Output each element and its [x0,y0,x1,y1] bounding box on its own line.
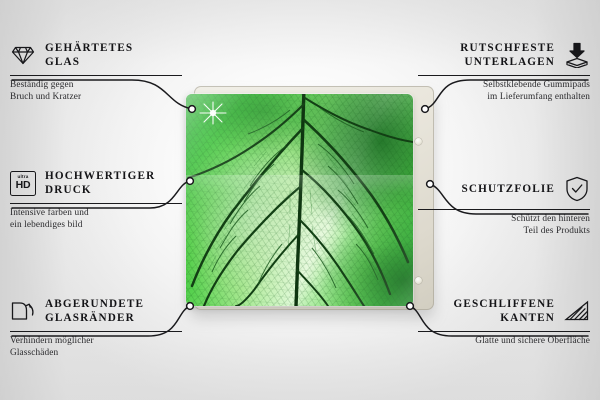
feature-subtitle: Verhindern möglicherGlasschäden [10,336,182,359]
feature-title-line-2: DRUCK [45,184,92,196]
feature-title-line-1: RUTSCHFESTE [460,42,555,54]
feature-subtitle-line-1: Verhindern möglicher [10,336,94,346]
ultra-hd-badge-icon: ultra HD [10,169,36,197]
feature-title-line-2: KANTEN [500,312,555,324]
rounded-corner-icon [10,297,36,325]
feature-subtitle: Schützt den hinterenTeil des Produkts [418,214,590,237]
feature-subtitle: Intensive farben undein lebendiges bild [10,208,182,231]
feature-divider [10,203,182,204]
feature-header: GEHÄRTETESGLAS [10,38,182,72]
feature-protective-film: SCHUTZFOLIE Schützt den hinterenTeil des… [418,172,590,237]
glass-panel [186,94,413,306]
feature-subtitle: Beständig gegenBruch und Kratzer [10,80,182,103]
arrow-onto-pad-icon [564,41,590,69]
feature-title-line-1: SCHUTZFOLIE [462,183,555,195]
feature-non-slip-pads: RUTSCHFESTEUNTERLAGEN Selbstklebende Gum… [418,38,590,103]
feature-header: ABGERUNDETEGLASRÄNDER [10,294,182,328]
diamond-icon [10,41,36,69]
feature-title: GEHÄRTETESGLAS [45,41,133,70]
hd-badge-hd-text: HD [16,180,31,191]
product-image [186,86,434,314]
feature-title: ABGERUNDETEGLASRÄNDER [45,297,144,326]
feature-subtitle-line-2: Bruch und Kratzer [10,92,81,102]
feature-title: SCHUTZFOLIE [462,182,555,197]
feature-divider [418,209,590,210]
feature-subtitle-line-1: Selbstklebende Gummipads [483,80,590,90]
feature-subtitle-line-2: ein lebendiges bild [10,220,83,230]
feature-subtitle: Selbstklebende Gummipadsim Lieferumfang … [418,80,590,103]
feature-header: SCHUTZFOLIE [418,172,590,206]
feature-divider [418,75,590,76]
feature-subtitle-line-1: Beständig gegen [10,80,74,90]
feature-rounded-glass-edges: ABGERUNDETEGLASRÄNDER Verhindern möglich… [10,294,182,359]
feature-divider [418,331,590,332]
feature-title-line-1: ABGERUNDETE [45,298,144,310]
feature-high-quality-print: ultra HD HOCHWERTIGERDRUCK Intensive far… [10,166,182,231]
feature-subtitle-line-2: Glasschäden [10,348,58,358]
feature-title-line-2: GLAS [45,56,80,68]
glass-sheen [186,94,413,306]
feature-header: RUTSCHFESTEUNTERLAGEN [418,38,590,72]
feature-subtitle-line-1: Glatte und sichere Oberfläche [475,336,590,346]
feature-title-line-2: UNTERLAGEN [465,56,555,68]
shield-check-icon [564,175,590,203]
feature-title-line-1: GEHÄRTETES [45,42,133,54]
feature-title: GESCHLIFFENEKANTEN [454,297,555,326]
feature-title-line-1: GESCHLIFFENE [454,298,555,310]
rubber-pad-bottom-right [415,277,422,284]
feature-subtitle-line-1: Schützt den hinteren [511,214,590,224]
feature-tempered-glass: GEHÄRTETESGLAS Beständig gegenBruch und … [10,38,182,103]
infographic-canvas: GEHÄRTETESGLAS Beständig gegenBruch und … [0,0,600,400]
feature-header: GESCHLIFFENEKANTEN [418,294,590,328]
feature-header: ultra HD HOCHWERTIGERDRUCK [10,166,182,200]
feature-title-line-2: GLASRÄNDER [45,312,135,324]
feature-title: RUTSCHFESTEUNTERLAGEN [460,41,555,70]
feature-subtitle-line-1: Intensive farben und [10,208,89,218]
rubber-pad-top-right [415,138,422,145]
feature-subtitle-line-2: im Lieferumfang enthalten [487,92,590,102]
feature-divider [10,331,182,332]
feature-subtitle-line-2: Teil des Produkts [524,226,590,236]
feature-title-line-1: HOCHWERTIGER [45,170,155,182]
feature-polished-edges: GESCHLIFFENEKANTEN Glatte und sichere Ob… [418,294,590,348]
feature-subtitle: Glatte und sichere Oberfläche [418,336,590,348]
feature-title: HOCHWERTIGERDRUCK [45,169,155,198]
hatched-triangle-icon [564,297,590,325]
feature-divider [10,75,182,76]
